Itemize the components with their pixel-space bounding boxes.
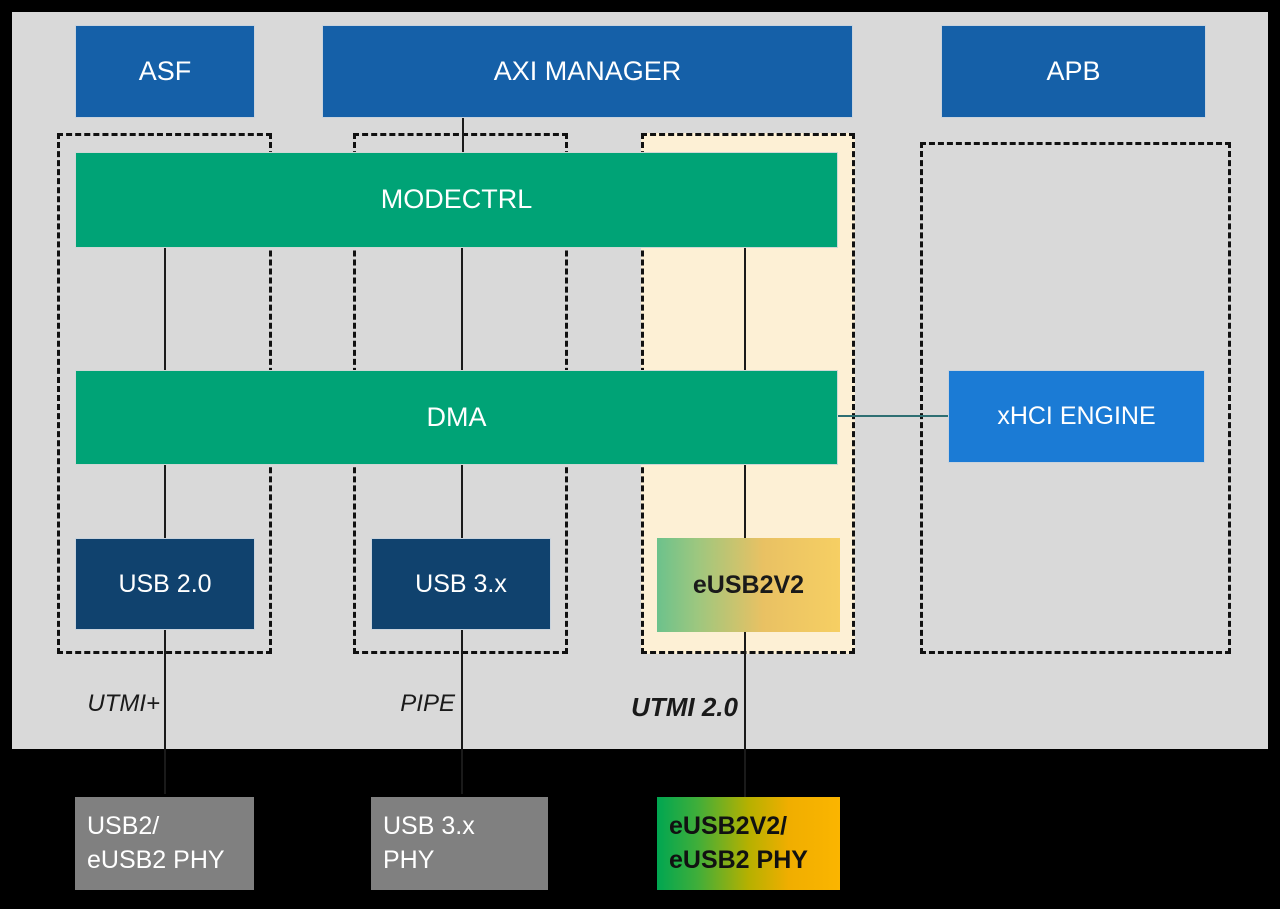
- connector-dma-to-xhci: [837, 415, 949, 417]
- connector-dma-to-usb20: [164, 462, 166, 542]
- phy-box-eusb2v2-eusb2[interactable]: eUSB2V2/ eUSB2 PHY: [657, 797, 840, 890]
- block-usb3x[interactable]: USB 3.x: [371, 538, 551, 630]
- phy-label-line1: eUSB2V2/: [669, 810, 840, 844]
- connector-usb20-to-phy: [164, 628, 166, 794]
- phy-label-line2: PHY: [383, 844, 548, 878]
- bus-box-asf[interactable]: ASF: [75, 25, 255, 118]
- phy-box-usb2-eusb2[interactable]: USB2/ eUSB2 PHY: [75, 797, 254, 890]
- phy-label-line1: USB 3.x: [383, 810, 548, 844]
- protocol-label-pipe: PIPE: [300, 690, 455, 718]
- block-dma[interactable]: DMA: [75, 370, 838, 465]
- block-eusb2v2[interactable]: eUSB2V2: [657, 538, 840, 632]
- connector-modectrl-to-dma-usb20: [164, 248, 166, 374]
- block-xhci-engine[interactable]: xHCI ENGINE: [948, 370, 1205, 463]
- phy-label-line2: eUSB2 PHY: [87, 844, 254, 878]
- phy-label-line1: USB2/: [87, 810, 254, 844]
- connector-usb3x-to-phy: [461, 628, 463, 794]
- connector-modectrl-to-dma-eusb2v2: [744, 248, 746, 374]
- bus-box-apb[interactable]: APB: [941, 25, 1206, 118]
- block-modectrl[interactable]: MODECTRL: [75, 152, 838, 248]
- bus-box-axi-manager[interactable]: AXI MANAGER: [322, 25, 853, 118]
- connector-axi-to-modectrl: [462, 112, 464, 156]
- block-usb20[interactable]: USB 2.0: [75, 538, 255, 630]
- phy-label-line2: eUSB2 PHY: [669, 844, 840, 878]
- connector-dma-to-eusb2v2: [744, 462, 746, 542]
- connector-modectrl-to-dma-usb3x: [461, 248, 463, 374]
- connector-eusb2v2-to-phy: [744, 628, 746, 798]
- protocol-label-utmi-20: UTMI 2.0: [570, 692, 738, 723]
- phy-box-usb3x[interactable]: USB 3.x PHY: [371, 797, 548, 890]
- diagram-canvas: ASF AXI MANAGER APB MODECTRL DMA USB 2.0…: [0, 0, 1280, 909]
- protocol-label-utmi-plus: UTMI+: [0, 690, 160, 718]
- connector-dma-to-usb3x: [461, 462, 463, 542]
